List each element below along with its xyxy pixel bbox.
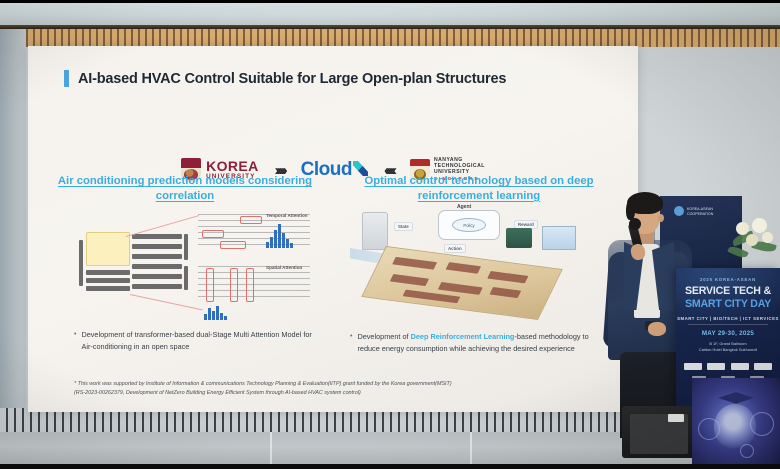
- transformer-encoder-stack: [76, 230, 132, 302]
- conference-photo-scene: AI-based HVAC Control Suitable for Large…: [0, 0, 780, 469]
- attention-highlight: [202, 230, 224, 238]
- transformer-decoder-stack: [132, 230, 188, 302]
- korea-university-name: KOREA: [206, 159, 259, 173]
- banner-title-line2: SMART CITY DAY: [676, 298, 780, 310]
- attention-highlight: [246, 268, 254, 302]
- presenter-ear: [658, 214, 664, 222]
- attention-highlight: [206, 268, 214, 302]
- model-layer: [132, 254, 182, 259]
- model-layer: [132, 264, 182, 269]
- flower-arrangement: [726, 212, 780, 276]
- model-output-bar: [184, 266, 188, 290]
- attention-highlight: [230, 268, 238, 302]
- model-layer: [132, 284, 182, 289]
- projection-slide: AI-based HVAC Control Suitable for Large…: [28, 46, 638, 412]
- bullet-left: • Development of transformer-based dual-…: [74, 329, 324, 353]
- presenter-hand-right: [648, 322, 666, 336]
- banner-sponsor-logos: [684, 363, 772, 370]
- banner-divider: [688, 324, 768, 325]
- banner-venue-line1: B 1F, Grand Ballroom: [676, 341, 780, 346]
- display-icon: [542, 226, 576, 250]
- bullet-dot-icon: •: [74, 329, 76, 353]
- bullet-right-text: Development of Deep Reinforcement Learni…: [357, 331, 612, 355]
- model-layer: [132, 244, 182, 249]
- rl-action-label: Action: [444, 244, 466, 253]
- bullet-dot-icon: •: [350, 331, 352, 355]
- building-floorplan-3d: [361, 246, 563, 320]
- wood-slat-wall-top: [0, 29, 780, 47]
- bullet-right: • Development of Deep Reinforcement Lear…: [350, 331, 612, 355]
- attention-highlight: [240, 216, 262, 224]
- temporal-attention-bars: [266, 224, 293, 248]
- monitor-label: [668, 414, 684, 422]
- banner-pretitle: 2025 KOREA-ASEAN: [676, 277, 780, 282]
- side-wall: [0, 29, 26, 434]
- transformer-architecture-diagram: Temporal Attention Spatial Attention: [70, 210, 326, 320]
- ceiling: [0, 0, 780, 28]
- rl-agent-box: Agent Policy: [438, 210, 500, 240]
- model-layer: [132, 234, 182, 239]
- footnote-line-2: (RS-2023-00262379, Development of NetZer…: [74, 389, 614, 398]
- rl-agent-label: Agent: [457, 204, 471, 210]
- model-layer: [86, 286, 130, 291]
- reinforcement-learning-diagram: Agent Policy State Action Reward: [346, 208, 616, 324]
- spatial-attention-matrix: [198, 266, 310, 302]
- model-output-bar: [184, 234, 188, 260]
- slide-title-row: AI-based HVAC Control Suitable for Large…: [64, 70, 618, 87]
- server-icon: [506, 228, 532, 248]
- slide-footnote: * This work was supported by Institute o…: [74, 380, 614, 399]
- rl-policy-node: Policy: [452, 218, 486, 232]
- banner-categories: SMART CITY | BIO/TECH | ICT SERVICES: [676, 316, 780, 321]
- letterbox-bottom: [0, 464, 780, 469]
- bullet-left-text: Development of transformer-based dual-St…: [81, 329, 324, 353]
- page-title: AI-based HVAC Control Suitable for Large…: [78, 71, 506, 87]
- model-layer: [86, 270, 130, 275]
- model-layer: [86, 278, 130, 283]
- model-input-bar: [79, 240, 83, 286]
- footnote-line-1: * This work was supported by Institute o…: [74, 380, 614, 389]
- bullet-right-prefix: Development of: [357, 332, 410, 341]
- digital-brain-graphic: [692, 378, 780, 469]
- section-heading-left: Air conditioning prediction models consi…: [50, 174, 320, 203]
- letterbox-top: [0, 0, 780, 3]
- bullet-right-highlight: Deep Reinforcement Learning: [411, 332, 515, 341]
- hvac-duct-icon: [362, 212, 388, 250]
- section-heading-right: Optimal control technology based on deep…: [338, 174, 620, 203]
- model-layer: [132, 274, 182, 279]
- temporal-attention-label: Temporal Attention: [266, 213, 308, 218]
- banner-venue-line2: Carlton Hotel Bangkok Sukhumvit: [676, 347, 780, 352]
- banner-date: MAY 29-30, 2025: [676, 330, 780, 337]
- attention-block-highlight: [86, 232, 130, 266]
- graduation-cap-icon: [718, 392, 754, 405]
- spatial-attention-label: Spatial Attention: [266, 265, 302, 270]
- rl-state-label: State: [394, 222, 413, 231]
- banner-title-line1: SERVICE TECH &: [676, 285, 780, 297]
- attention-highlight: [220, 241, 246, 249]
- title-accent-bar: [64, 70, 69, 87]
- spatial-attention-bars: [204, 306, 227, 320]
